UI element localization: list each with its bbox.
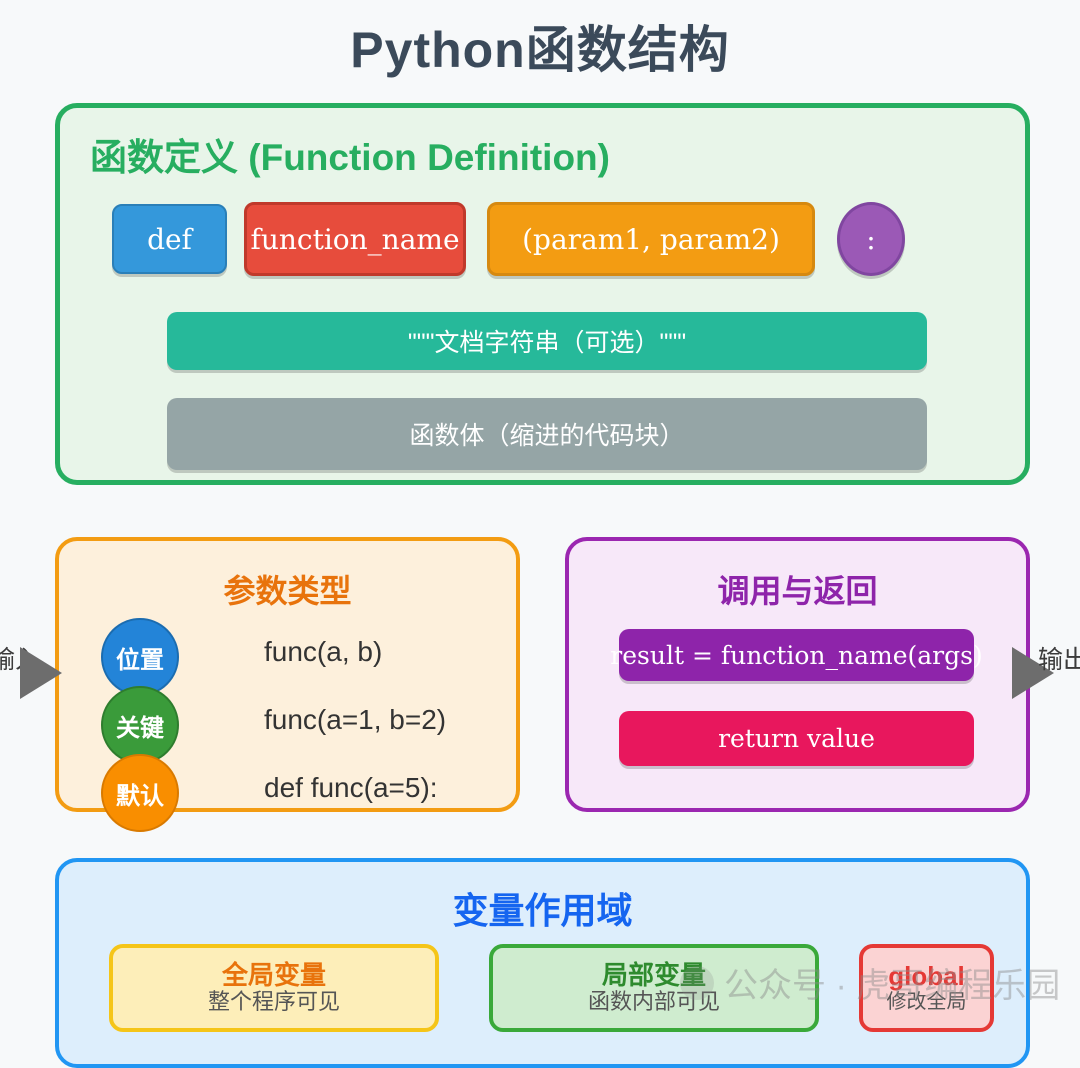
param-bubble-default[interactable]: 默认 [101,754,179,832]
colon-chip[interactable]: : [837,202,905,276]
parameter-types-panel: 参数类型 位置 关键 默认 func(a, b) func(a=1, b=2) … [55,537,520,812]
function-definition-title: 函数定义 (Function Definition) [90,127,610,181]
scope-card-title: 全局变量 [222,961,326,990]
docstring-chip[interactable]: """文档字符串（可选）""" [167,312,927,370]
param-bubble-keyword[interactable]: 关键 [101,686,179,764]
scope-card-subtitle: 整个程序可见 [208,989,340,1015]
diagram-canvas: Python函数结构 函数定义 (Function Definition) de… [0,0,1080,1033]
scope-card-global-variable[interactable]: 全局变量 整个程序可见 [109,944,439,1032]
parameter-types-title: 参数类型 [59,566,516,612]
input-arrow-icon [20,647,62,699]
return-statement-code[interactable]: return value [619,711,974,766]
param-example-default: def func(a=5): [264,772,438,804]
scope-card-subtitle: 修改全局 [887,990,967,1014]
variable-scope-title: 变量作用域 [59,882,1026,934]
scope-card-subtitle: 函数内部可见 [588,989,720,1015]
scope-card-global-keyword[interactable]: global 修改全局 [859,944,994,1032]
param-bubble-positional[interactable]: 位置 [101,618,179,696]
scope-card-title: 局部变量 [602,961,706,990]
scope-card-local-variable[interactable]: 局部变量 函数内部可见 [489,944,819,1032]
param-example-keyword: func(a=1, b=2) [264,704,446,736]
function-name-chip[interactable]: function_name [244,202,466,276]
page-title: Python函数结构 [0,10,1080,82]
call-and-return-panel: 调用与返回 result = function_name(args) retur… [565,537,1030,812]
call-and-return-title: 调用与返回 [569,566,1026,612]
param-example-positional: func(a, b) [264,636,382,668]
def-keyword-chip[interactable]: def [112,204,227,274]
function-call-code[interactable]: result = function_name(args) [619,629,974,681]
output-flow-label: 输出 [1038,640,1080,676]
function-body-chip[interactable]: 函数体（缩进的代码块） [167,398,927,470]
function-definition-panel: 函数定义 (Function Definition) def function_… [55,103,1030,485]
scope-card-title: global [888,962,965,991]
parameters-chip[interactable]: (param1, param2) [487,202,815,276]
variable-scope-panel: 变量作用域 全局变量 整个程序可见 局部变量 函数内部可见 global 修改全… [55,858,1030,1068]
